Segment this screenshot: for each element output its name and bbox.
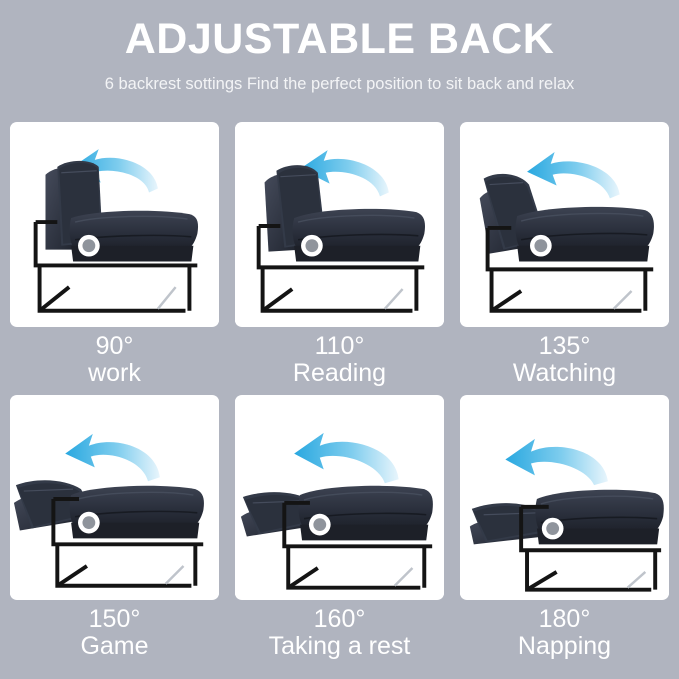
- position-use: Game: [80, 633, 148, 660]
- position-use: Reading: [293, 360, 386, 387]
- page-subtitle: 6 backrest sottings Find the perfect pos…: [0, 75, 679, 93]
- position-caption-160: 160° Taking a rest: [269, 600, 411, 662]
- position-grid: 90° work: [10, 122, 669, 662]
- position-angle: 90°: [88, 333, 141, 360]
- header: ADJUSTABLE BACK 6 backrest sottings Find…: [0, 0, 679, 93]
- chair-photo-90: [10, 122, 219, 327]
- position-use: work: [88, 360, 141, 387]
- position-angle: 150°: [80, 606, 148, 633]
- adjust-knob-icon: [78, 512, 100, 534]
- chair-photo-180: [460, 395, 669, 600]
- position-caption-90: 90° work: [88, 327, 141, 389]
- position-use: Napping: [518, 633, 611, 660]
- position-cell-180[interactable]: 180° Napping: [460, 395, 669, 662]
- adjustable-back-infographic: ADJUSTABLE BACK 6 backrest sottings Find…: [0, 0, 679, 679]
- chair-photo-135: [460, 122, 669, 327]
- position-cell-135[interactable]: 135° Watching: [460, 122, 669, 389]
- adjust-knob-icon: [542, 518, 564, 540]
- adjust-knob-icon: [309, 514, 331, 536]
- position-cell-110[interactable]: 110° Reading: [235, 122, 444, 389]
- position-angle: 135°: [513, 333, 616, 360]
- adjust-knob-icon: [78, 235, 100, 257]
- position-caption-180: 180° Napping: [518, 600, 611, 662]
- position-caption-110: 110° Reading: [293, 327, 386, 389]
- position-caption-150: 150° Game: [80, 600, 148, 662]
- position-cell-150[interactable]: 150° Game: [10, 395, 219, 662]
- position-caption-135: 135° Watching: [513, 327, 616, 389]
- chair-photo-150: [10, 395, 219, 600]
- adjust-knob-icon: [301, 235, 323, 257]
- position-angle: 180°: [518, 606, 611, 633]
- chair-photo-110: [235, 122, 444, 327]
- position-cell-90[interactable]: 90° work: [10, 122, 219, 389]
- position-angle: 160°: [269, 606, 411, 633]
- page-title: ADJUSTABLE BACK: [0, 18, 679, 61]
- position-use: Taking a rest: [269, 633, 411, 660]
- position-cell-160[interactable]: 160° Taking a rest: [235, 395, 444, 662]
- position-angle: 110°: [293, 333, 386, 360]
- adjust-knob-icon: [530, 235, 552, 257]
- chair-photo-160: [235, 395, 444, 600]
- position-use: Watching: [513, 360, 616, 387]
